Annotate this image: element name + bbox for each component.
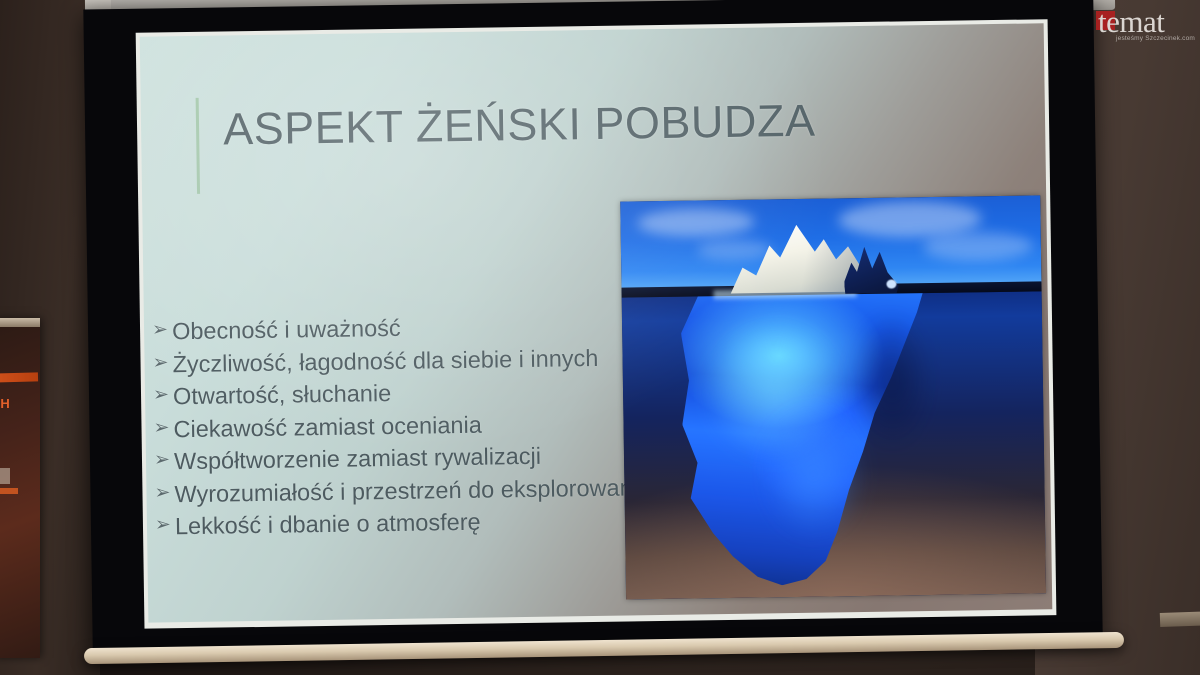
photo-of-projected-slide: CH ASPEKT ŻEŃSKI POBUDZA ➢ Obecność i uw… [0, 0, 1200, 675]
list-item-label: Obecność i uważność [172, 309, 672, 347]
ship-light [886, 279, 896, 289]
bullet-arrow-icon: ➢ [152, 349, 172, 377]
list-item: ➢ Lekkość i dbanie o atmosferę [155, 504, 675, 542]
iceberg-shadow [840, 300, 935, 461]
list-item-label: Wyrozumiałość i przestrzeń do eksplorowa… [174, 472, 674, 510]
bullet-arrow-icon: ➢ [153, 381, 173, 409]
list-item-label: Współtworzenie zamiast rywalizacji [174, 439, 674, 477]
bullet-arrow-icon: ➢ [154, 479, 174, 507]
poster-chip [0, 468, 10, 484]
list-item-label: Życzliwość, łagodność dla siebie i innyc… [172, 341, 672, 379]
list-item: ➢ Życzliwość, łagodność dla siebie i inn… [152, 341, 672, 379]
poster-text-band [0, 372, 38, 382]
list-item: ➢ Ciekawość zamiast oceniania [153, 406, 673, 444]
bullet-arrow-icon: ➢ [155, 512, 175, 540]
poster-accent-line [0, 488, 18, 494]
list-item: ➢ Wyrozumiałość i przestrzeń do eksploro… [154, 472, 674, 510]
list-item-label: Lekkość i dbanie o atmosferę [175, 504, 675, 542]
bullet-arrow-icon: ➢ [154, 446, 174, 474]
list-item: ➢ Otwartość, słuchanie [153, 374, 673, 412]
slide-bullet-list: ➢ Obecność i uważność ➢ Życzliwość, łago… [152, 309, 675, 545]
bullet-arrow-icon: ➢ [152, 316, 172, 344]
list-item: ➢ Współtworzenie zamiast rywalizacji [154, 439, 674, 477]
iceberg-image [620, 195, 1046, 599]
logo-tagline: jesteśmy Szczecinek.com [1116, 35, 1195, 42]
presentation-slide: ASPEKT ŻEŃSKI POBUDZA ➢ Obecność i uważn… [140, 23, 1053, 622]
title-accent-bar [196, 98, 200, 194]
projection-screen: ASPEKT ŻEŃSKI POBUDZA ➢ Obecność i uważn… [83, 0, 1102, 649]
wall-baseboard [1160, 611, 1200, 627]
list-item: ➢ Obecność i uważność [152, 309, 672, 347]
poster-text-fragment: CH [0, 396, 11, 411]
list-item-label: Ciekawość zamiast oceniania [173, 406, 673, 444]
watermark-logo: temat jesteśmy Szczecinek.com [1092, 8, 1188, 46]
wall-poster: CH [0, 318, 40, 658]
list-item-label: Otwartość, słuchanie [173, 374, 673, 412]
bullet-arrow-icon: ➢ [153, 414, 173, 442]
logo-wordmark: temat [1098, 6, 1164, 37]
poster-top-edge [0, 318, 40, 327]
slide-title: ASPEKT ŻEŃSKI POBUDZA [223, 95, 816, 156]
